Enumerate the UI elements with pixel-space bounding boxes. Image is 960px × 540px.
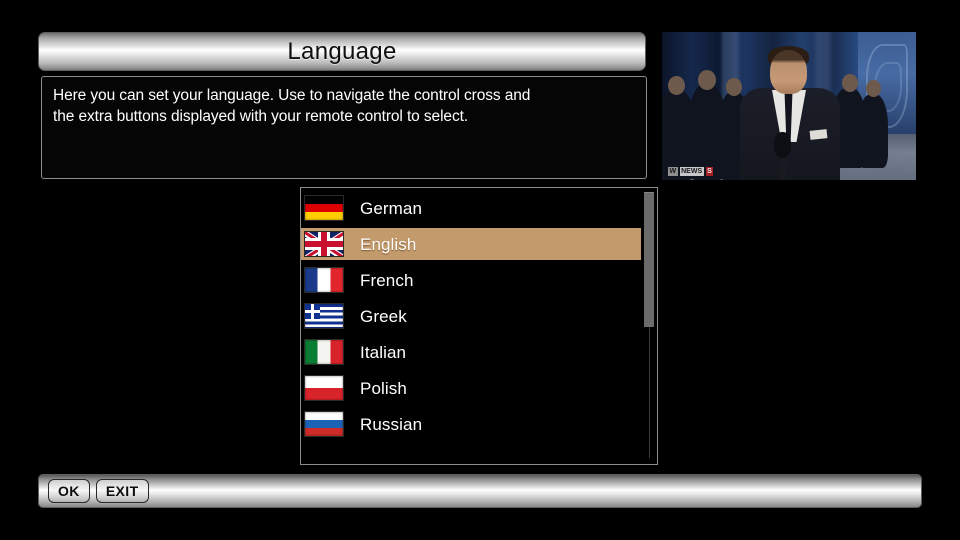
exit-button[interactable]: EXIT <box>96 479 149 503</box>
watermark-part-3: S <box>706 167 714 176</box>
ok-button[interactable]: OK <box>48 479 90 503</box>
reporter-pocket-square <box>810 129 828 140</box>
crowd-head <box>698 70 716 90</box>
list-item[interactable]: German <box>301 192 641 224</box>
broadcaster-watermark: W NEWS S <box>668 167 713 176</box>
flag-united-kingdom-icon <box>304 231 344 257</box>
language-label: Italian <box>360 344 406 361</box>
reporter-head <box>770 50 807 94</box>
crowd-head <box>726 78 742 96</box>
exit-button-label: EXIT <box>106 484 139 498</box>
watermark-part-1: W <box>668 167 678 176</box>
flag-germany-icon <box>304 195 344 221</box>
flag-poland-icon <box>304 375 344 401</box>
list-item[interactable]: Greek <box>301 300 641 332</box>
language-label: Greek <box>360 308 407 325</box>
language-label: Polish <box>360 380 407 397</box>
microphone-icon <box>774 132 791 158</box>
language-label: Russian <box>360 416 422 433</box>
crowd-head <box>842 74 858 92</box>
list-item[interactable]: Russian <box>301 408 641 440</box>
flag-france-icon <box>304 267 344 293</box>
description-box: Here you can set your language. Use to n… <box>41 76 647 179</box>
description-text: Here you can set your language. Use to n… <box>53 85 635 127</box>
language-list-panel[interactable]: German English French Greek <box>300 187 658 465</box>
list-item[interactable]: French <box>301 264 641 296</box>
ok-button-label: OK <box>58 484 80 498</box>
tv-settings-screen: Language Here you can set your language.… <box>0 0 960 540</box>
scrollbar-thumb[interactable] <box>644 192 654 327</box>
crowd-figure <box>858 94 888 168</box>
flag-greece-icon <box>304 303 344 329</box>
video-preview[interactable]: W NEWS S <box>662 32 916 180</box>
language-label: German <box>360 200 422 217</box>
scrollbar-guide <box>649 326 650 458</box>
crowd-head <box>668 76 685 95</box>
flag-russia-icon <box>304 411 344 437</box>
language-label: French <box>360 272 414 289</box>
bottom-action-bar: OK EXIT <box>38 474 922 508</box>
list-item[interactable]: English <box>301 228 641 260</box>
page-title: Language <box>287 40 396 64</box>
language-label: English <box>360 236 416 253</box>
list-item[interactable]: Italian <box>301 336 641 368</box>
window-title-bar: Language <box>38 32 646 71</box>
crowd-head <box>866 80 881 97</box>
list-item[interactable]: Polish <box>301 372 641 404</box>
language-list: German English French Greek <box>301 192 641 444</box>
flag-italy-icon <box>304 339 344 365</box>
watermark-part-2: NEWS <box>680 167 704 176</box>
